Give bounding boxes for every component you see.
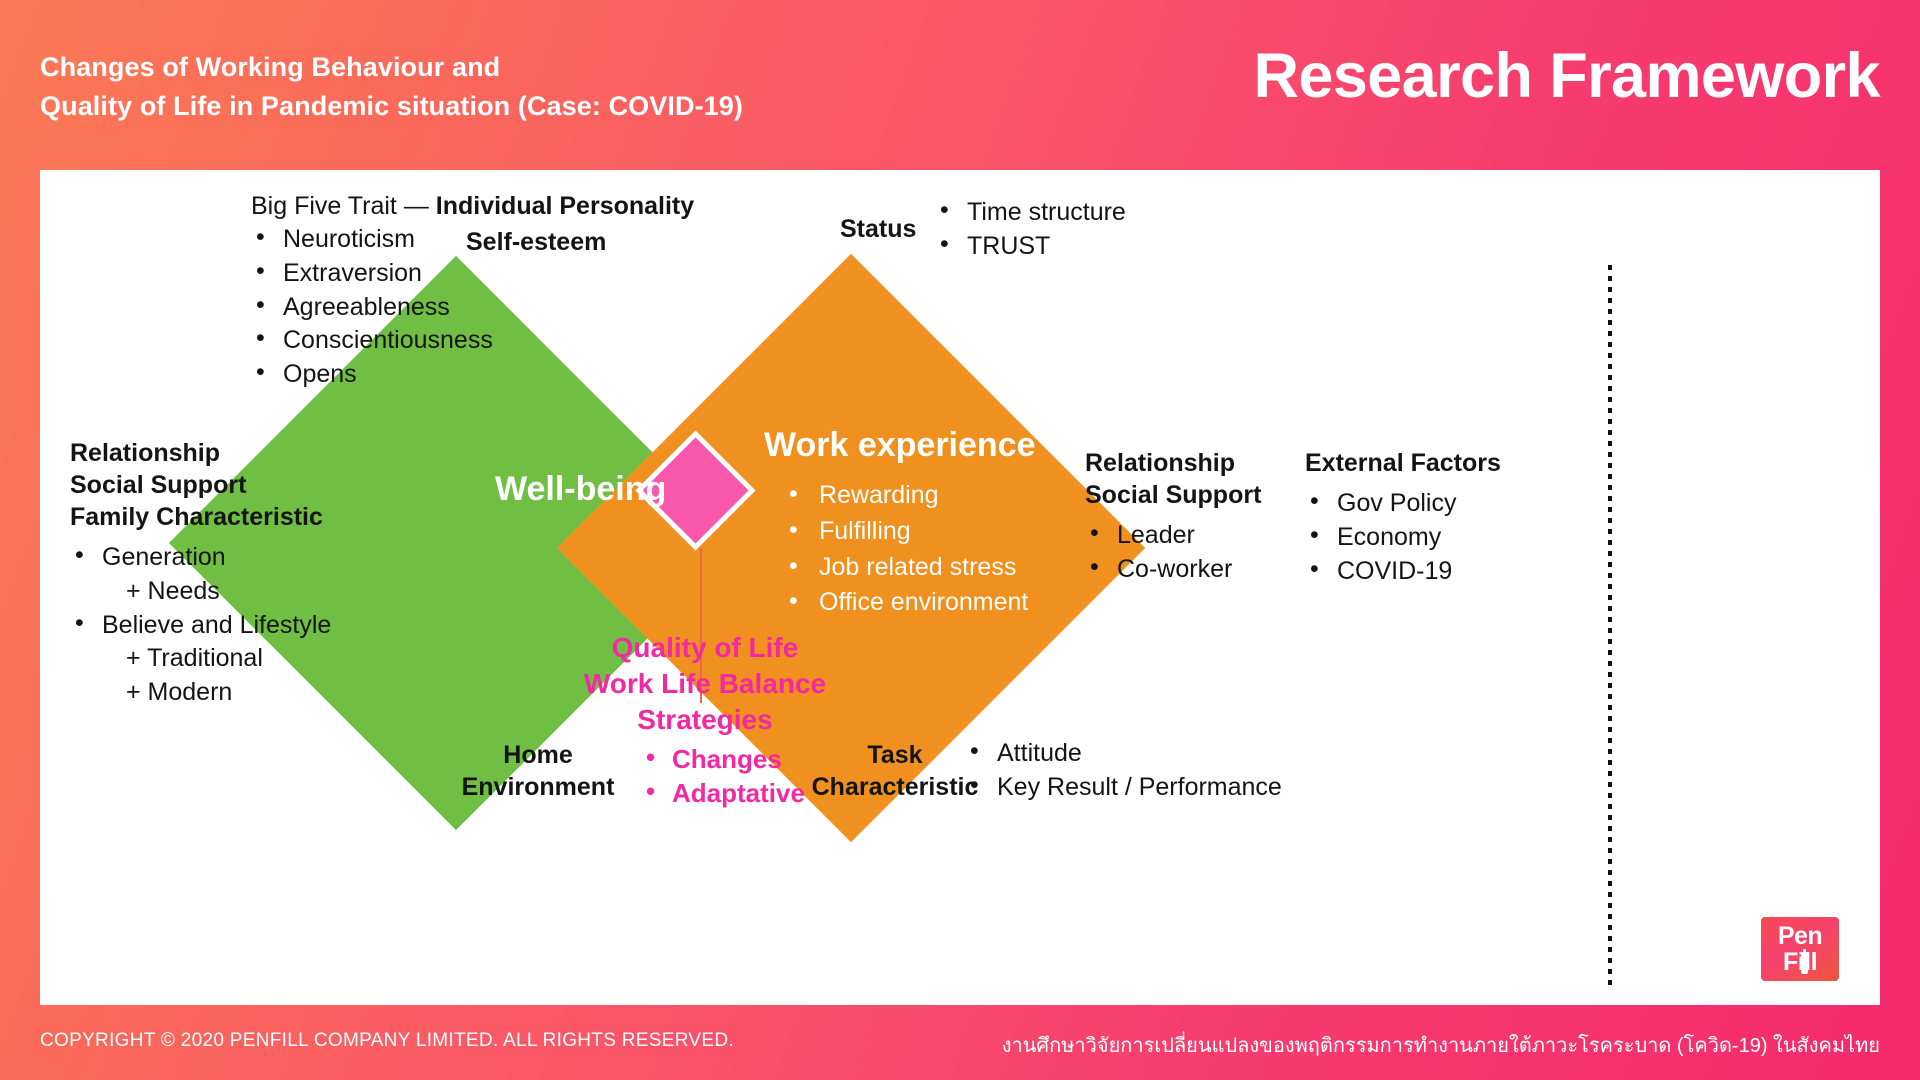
external-factors-list: Gov Policy Economy COVID-19 — [1305, 488, 1456, 589]
task-line2: Characteristic — [810, 772, 980, 804]
list-item: Co-worker — [1085, 554, 1232, 586]
work-experience-label: Work experience — [764, 426, 1036, 465]
home-environment-label: Home Environment — [458, 740, 618, 804]
list-item: Office environment — [785, 587, 1028, 618]
big-five-block: Big Five Trait — Individual Personality … — [251, 192, 694, 393]
list-item: Attitude — [965, 738, 1282, 770]
status-list: Time structure TRUST — [935, 197, 1126, 265]
bottle-icon — [1801, 949, 1808, 974]
big-five-title-plain: Big Five Trait — — [251, 192, 436, 220]
list-item: COVID-19 — [1305, 556, 1456, 588]
list-item: Agreeableness — [251, 292, 694, 324]
penfill-logo-inner: Pen Fill — [1761, 917, 1839, 981]
header-subtitle-line2: Quality of Life in Pandemic situation (C… — [40, 87, 1040, 126]
list-item: Believe and Lifestyle — [70, 610, 331, 642]
right-heading-line1: Relationship — [1085, 448, 1261, 480]
task-line1: Task — [810, 740, 980, 772]
work-experience-list: Rewarding Fulfilling Job related stress … — [785, 480, 1028, 623]
list-item: Generation — [70, 542, 331, 574]
list-item: Neuroticism — [251, 224, 694, 256]
list-item: Extraversion — [251, 258, 694, 290]
list-item: Conscientiousness — [251, 325, 694, 357]
status-heading: Status — [840, 214, 916, 246]
list-item: Economy — [1305, 522, 1456, 554]
home-line1: Home — [458, 740, 618, 772]
left-heading-line3: Family Characteristic — [70, 502, 323, 534]
left-heading-line1: Relationship — [70, 438, 323, 470]
header-subtitle: Changes of Working Behaviour and Quality… — [40, 48, 1040, 126]
list-item: + Traditional — [70, 643, 331, 675]
list-item: + Modern — [70, 677, 331, 709]
qol-line2: Work Life Balance — [570, 666, 840, 702]
list-item: Rewarding — [785, 480, 1028, 511]
list-item: Job related stress — [785, 552, 1028, 583]
big-five-list: Neuroticism Extraversion Agreeableness C… — [251, 224, 694, 391]
penfill-logo[interactable]: Pen Fill — [1756, 912, 1844, 986]
page-title: Research Framework — [1253, 45, 1880, 108]
task-characteristic-list: Attitude Key Result / Performance — [965, 738, 1282, 806]
right-block-list: Leader Co-worker — [1085, 520, 1232, 588]
right-heading-line2: Social Support — [1085, 480, 1261, 512]
external-factors-heading: External Factors — [1305, 448, 1501, 480]
list-item: Leader — [1085, 520, 1232, 552]
logo-text-fill: Fill — [1761, 950, 1839, 975]
left-block-heading: Relationship Social Support Family Chara… — [70, 438, 323, 533]
wellbeing-label: Well-being — [495, 470, 666, 509]
logo-text-pen: Pen — [1761, 924, 1839, 949]
list-item: Fulfilling — [785, 516, 1028, 547]
diagram-canvas: Well-being Work experience Rewarding Ful… — [40, 170, 1880, 1005]
big-five-title: Big Five Trait — Individual Personality — [251, 192, 694, 221]
qol-line1: Quality of Life — [570, 630, 840, 666]
left-block-list: Generation + Needs Believe and Lifestyle… — [70, 542, 331, 711]
list-item: Time structure — [935, 197, 1126, 229]
task-characteristic-label: Task Characteristic — [810, 740, 980, 804]
dotted-divider — [1608, 265, 1612, 987]
home-line2: Environment — [458, 772, 618, 804]
header-subtitle-line1: Changes of Working Behaviour and — [40, 48, 1040, 87]
list-item: + Needs — [70, 576, 331, 608]
right-block-heading: Relationship Social Support — [1085, 448, 1261, 512]
footer-thai-subtitle: งานศึกษาวิจัยการเปลี่ยนแปลงของพฤติกรรมกา… — [1002, 1029, 1880, 1061]
list-item: Gov Policy — [1305, 488, 1456, 520]
left-heading-line2: Social Support — [70, 470, 323, 502]
big-five-title-bold: Individual Personality — [436, 192, 694, 220]
qol-line3: Strategies — [570, 702, 840, 738]
list-item: TRUST — [935, 231, 1126, 263]
header-band: Changes of Working Behaviour and Quality… — [0, 0, 1920, 170]
list-item: Key Result / Performance — [965, 772, 1282, 804]
footer-copyright: COPYRIGHT © 2020 PENFILL COMPANY LIMITED… — [40, 1030, 734, 1052]
list-item: Opens — [251, 359, 694, 391]
